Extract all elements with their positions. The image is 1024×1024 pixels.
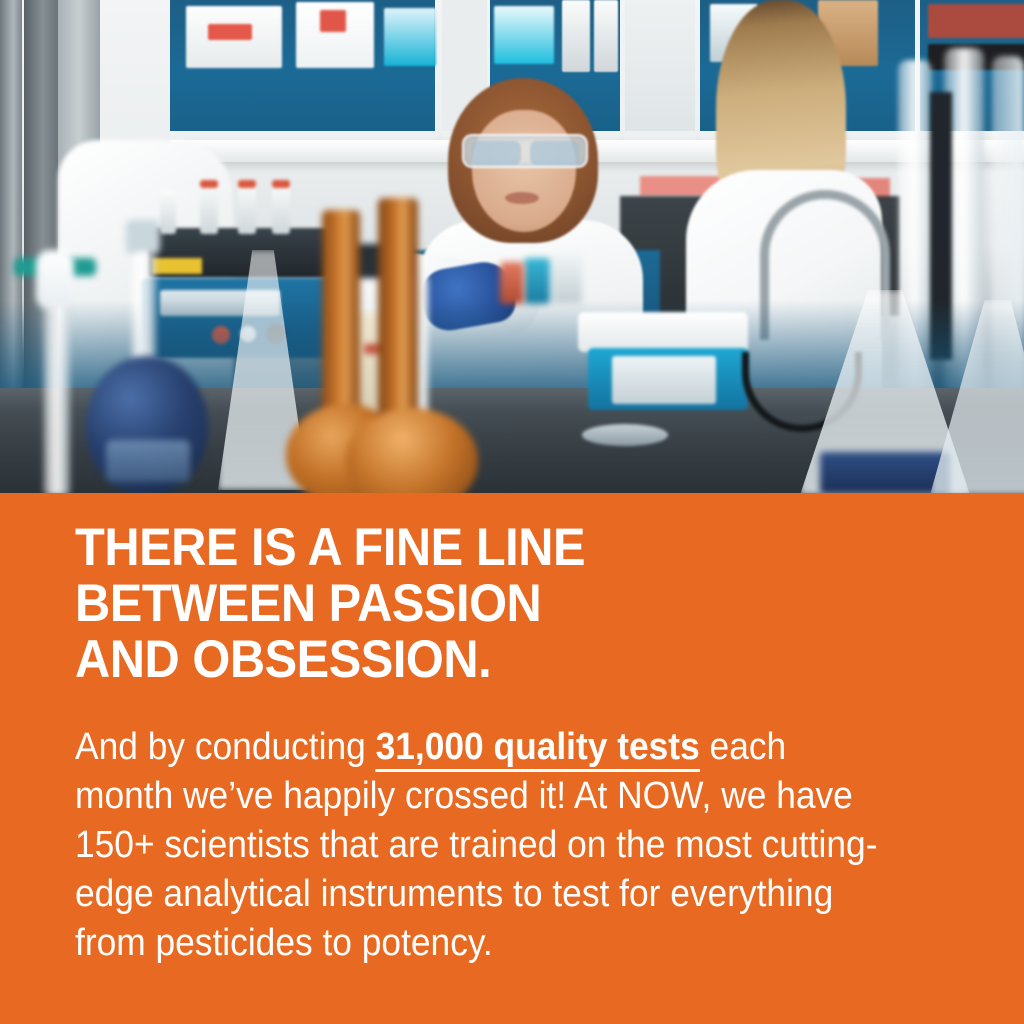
poster-canvas: THERE IS A FINE LINE BETWEEN PASSION AND… [0, 0, 1024, 1024]
lab-instrument-panel [612, 356, 716, 404]
instrument-rack-yellow-label [152, 258, 202, 274]
instrument-tube [200, 182, 218, 234]
center-scientist-face [472, 110, 576, 232]
pipette-body [36, 250, 74, 310]
cabinet-panel [170, 0, 435, 140]
amber-flask-neck [322, 210, 360, 430]
lab-photo [0, 0, 1024, 493]
sample-vial-blue [524, 258, 550, 304]
sample-vial [552, 252, 582, 304]
pipette-stem [44, 306, 70, 493]
shelf-box [928, 4, 1024, 38]
goggles-lens [530, 141, 580, 165]
shelf-box [208, 24, 252, 40]
shelf-box [494, 6, 554, 64]
shelf-box [562, 0, 590, 72]
petri-dish [582, 424, 668, 446]
shelf-box [320, 10, 346, 32]
quality-tests-emphasis: 31,000 quality tests [376, 726, 700, 772]
instrument-tube [160, 190, 176, 234]
instrument-tube-cap [200, 180, 218, 188]
instrument-tube-cap [272, 180, 290, 188]
goggles-lens [471, 141, 521, 165]
lab-instrument-white [578, 312, 748, 352]
body-text-before: And by conducting [75, 726, 376, 768]
flask-liquid-blue [820, 452, 950, 493]
center-scientist-mouth [505, 192, 539, 204]
orange-text-panel: THERE IS A FINE LINE BETWEEN PASSION AND… [0, 493, 1024, 1024]
page-title: THERE IS A FINE LINE BETWEEN PASSION AND… [75, 520, 903, 688]
shelf-box [384, 8, 436, 66]
shelf-box [594, 0, 618, 72]
instrument-tube [238, 182, 256, 234]
instrument-tube-cap [238, 180, 256, 188]
body-copy: And by conducting 31,000 quality tests e… [75, 723, 893, 968]
sample-vial-red [500, 262, 524, 304]
instrument-tube [272, 182, 290, 234]
flask-volume-label [106, 440, 190, 482]
volumetric-flask-blue [126, 220, 160, 254]
safety-goggles-icon [462, 134, 588, 168]
amber-flask-neck [378, 198, 418, 434]
